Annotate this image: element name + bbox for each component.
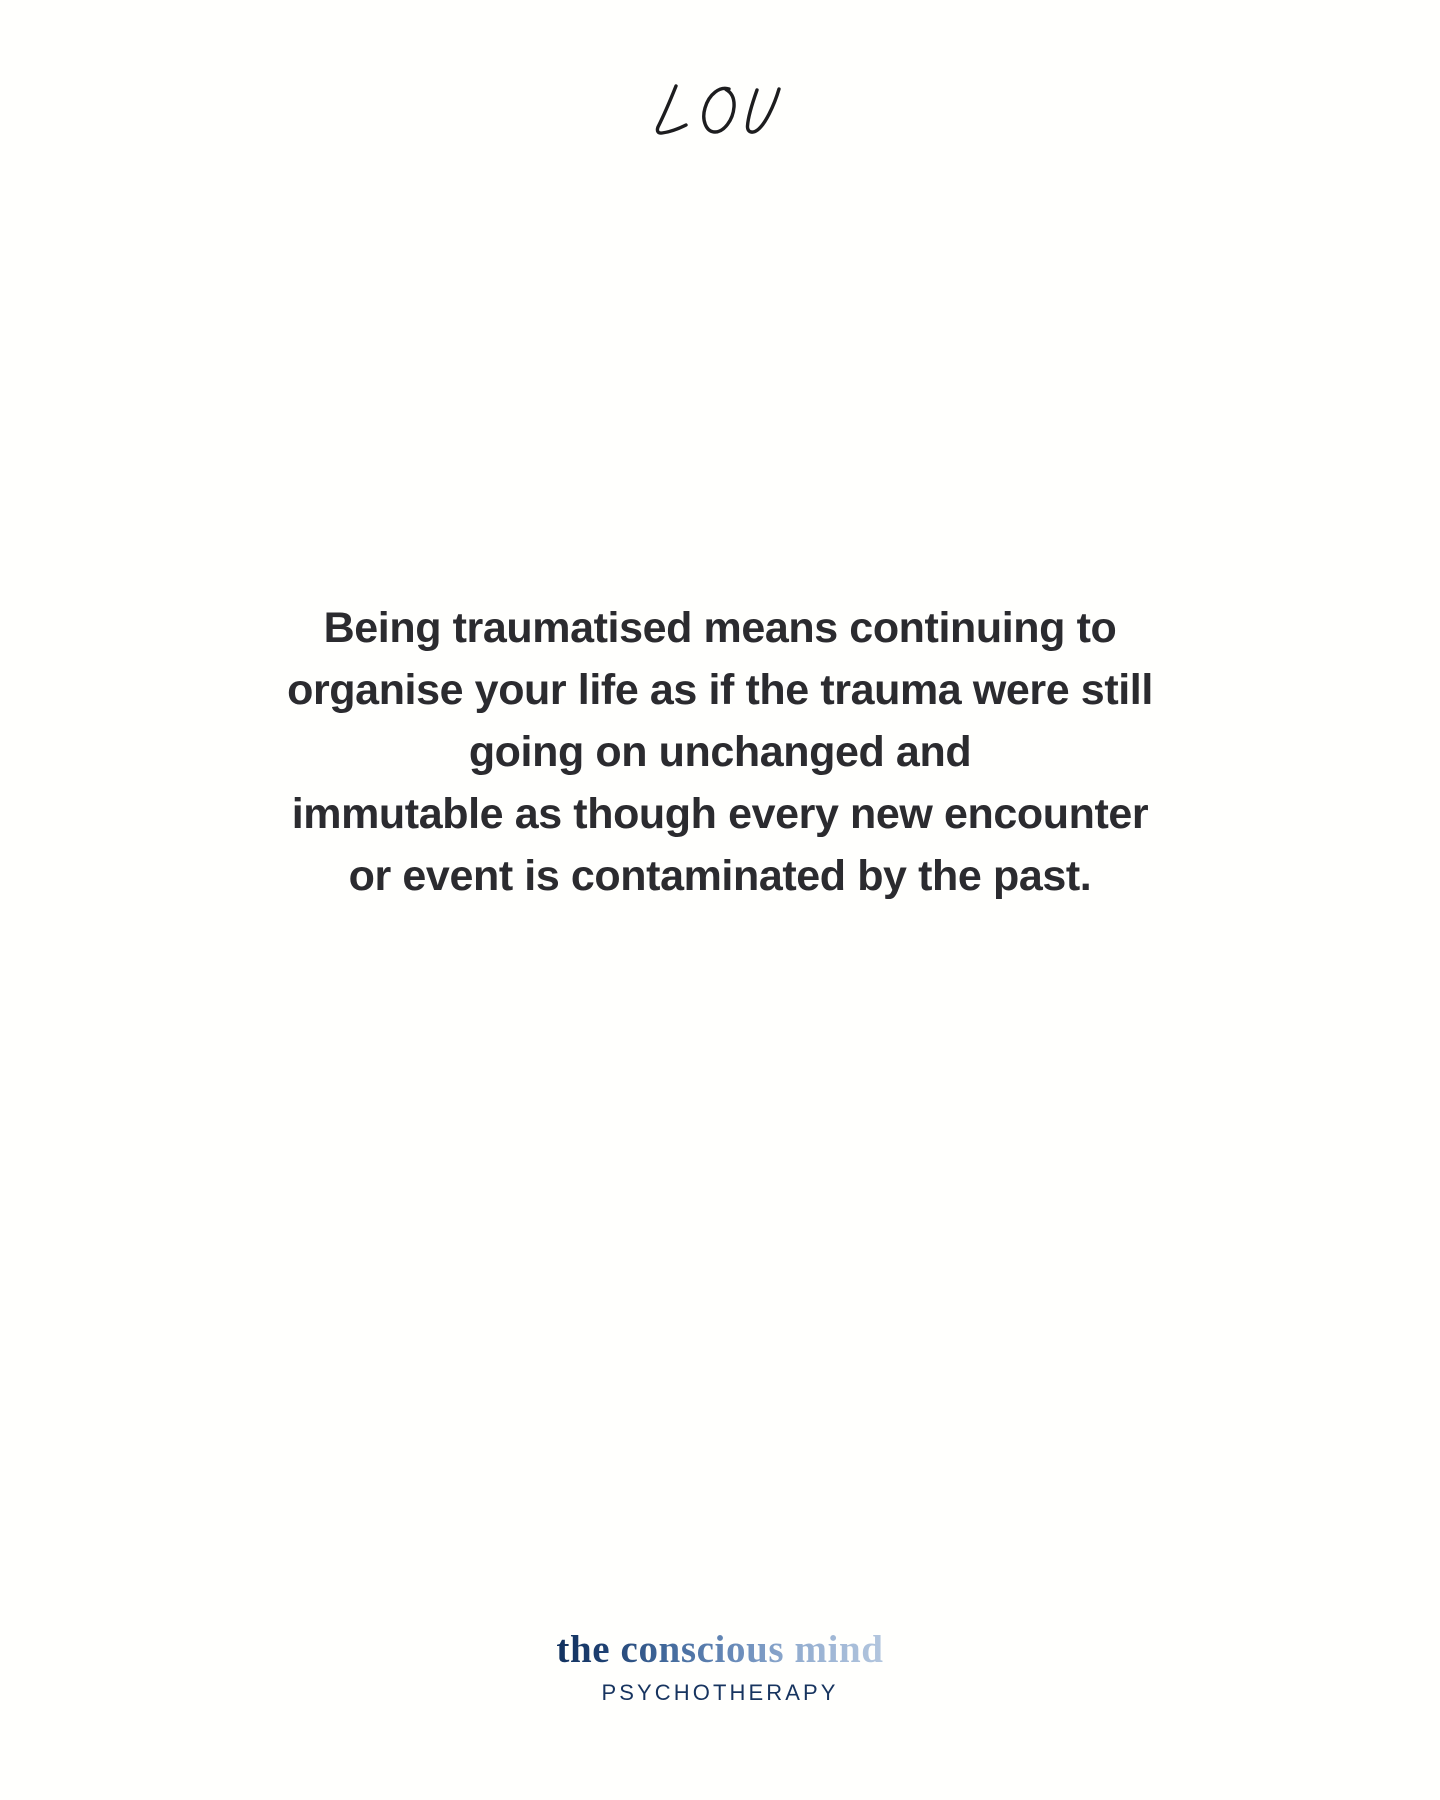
brand-wordmark: the conscious mind: [556, 1628, 883, 1672]
signature-lou-icon: [645, 80, 795, 150]
quote-line-5: or event is contaminated by the past.: [150, 845, 1290, 907]
brand-subtitle: PSYCHOTHERAPY: [0, 1680, 1440, 1706]
quote-line-2: organise your life as if the trauma were…: [150, 659, 1290, 721]
quote-line-3: going on unchanged and: [150, 721, 1290, 783]
quote-line-1: Being traumatised means continuing to: [150, 597, 1290, 659]
signature-lou: [0, 70, 1440, 160]
quote-block: Being traumatised means continuing to or…: [0, 597, 1440, 907]
quote-line-4: immutable as though every new encounter: [150, 783, 1290, 845]
poster-canvas: Being traumatised means continuing to or…: [0, 0, 1440, 1800]
brand-logo: the conscious mind PSYCHOTHERAPY: [0, 1628, 1440, 1706]
